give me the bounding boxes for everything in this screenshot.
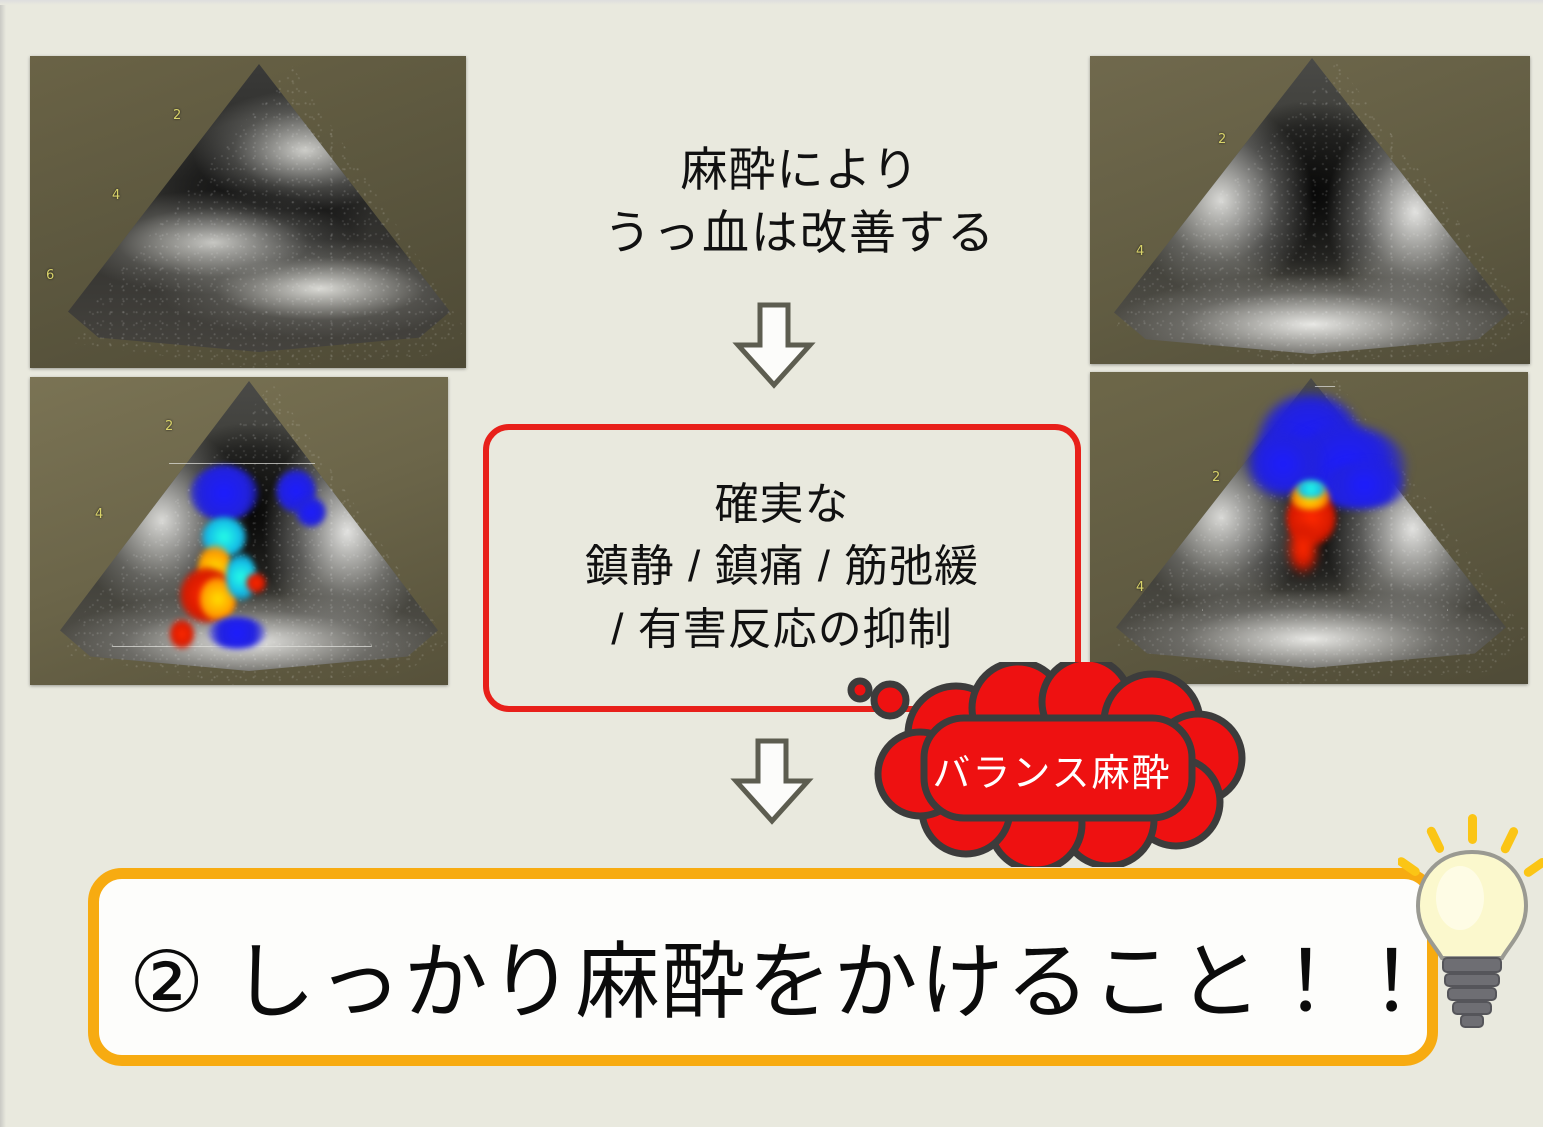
ultrasound-image-bottom-right: 2 4 <box>1090 372 1528 684</box>
depth-mark-2: 2 <box>1218 132 1226 147</box>
lightbulb-icon <box>1398 812 1543 1040</box>
slide-left-edge <box>0 0 6 1127</box>
depth-mark-4: 4 <box>1136 580 1144 595</box>
red-box-line-1: 確実な <box>489 474 1075 536</box>
down-arrow-icon-2 <box>729 737 815 825</box>
headline-line-1: 麻酔により <box>520 138 1080 201</box>
depth-mark-4: 4 <box>112 188 120 203</box>
depth-mark-4: 4 <box>95 507 103 522</box>
ultrasound-image-top-right: 2 4 <box>1090 56 1530 364</box>
depth-mark-2: 2 <box>1212 470 1220 485</box>
red-box-text: 確実な 鎮静 / 鎮痛 / 筋弛緩 / 有害反応の抑制 <box>489 474 1075 661</box>
depth-mark-6: 6 <box>46 268 54 283</box>
red-box-line-3: / 有害反応の抑制 <box>489 599 1075 661</box>
down-arrow-icon-1 <box>731 301 817 389</box>
thought-cloud-callout: バランス麻酔 <box>846 662 1258 867</box>
red-box-line-2: 鎮静 / 鎮痛 / 筋弛緩 <box>489 536 1075 598</box>
ultrasound-image-bottom-left: 2 4 <box>30 377 448 685</box>
headline-line-2: うっ血は改善する <box>520 201 1080 264</box>
conclusion-banner-text: ② しっかり麻酔をかけること！！ <box>129 915 1419 1036</box>
slide-top-edge <box>0 0 1543 5</box>
headline-text: 麻酔により うっ血は改善する <box>520 138 1080 265</box>
conclusion-banner: ② しっかり麻酔をかけること！！ <box>88 868 1438 1066</box>
depth-mark-2: 2 <box>165 419 173 434</box>
slide-canvas: 2 4 6 2 4 <box>0 0 1543 1127</box>
depth-mark-4: 4 <box>1136 244 1144 259</box>
depth-mark-2: 2 <box>173 108 181 123</box>
ultrasound-image-top-left: 2 4 6 <box>30 56 466 368</box>
